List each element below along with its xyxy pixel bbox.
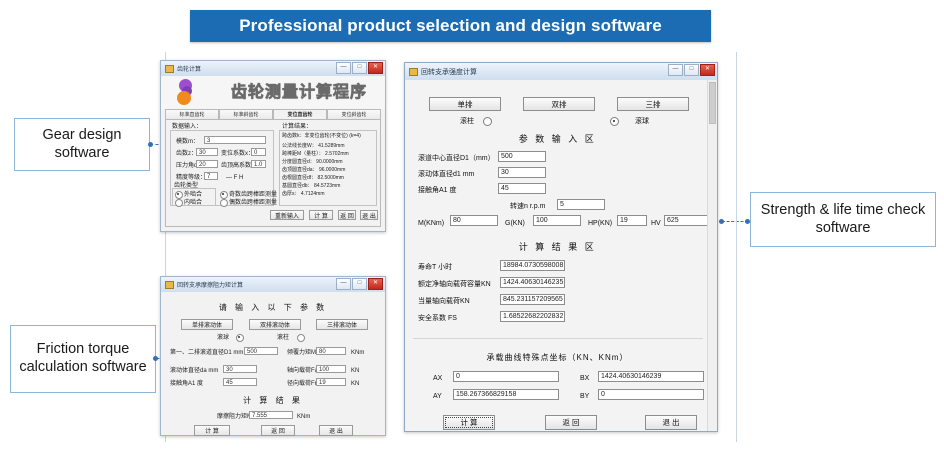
strength-input-value-0[interactable]: 500 [498,151,546,162]
friction-window-titlebar[interactable]: 回转支承摩擦阻力矩计算 — □ ✕ [161,277,385,293]
strength-coord-label-ax: AX [433,375,442,382]
friction-left-input-2[interactable]: 45 [223,378,257,386]
banner-title: Professional product selection and desig… [239,16,662,36]
screenshot-root: Professional product selection and desig… [0,0,944,457]
strength-result-value-0[interactable]: 18984.0730598008 [500,260,565,271]
friction-radio-roller-label: 滚柱 [277,335,289,341]
strength-check-window[interactable]: 回转支承强度计算 — □ ✕ 单排 双排 三排 滚柱 滚球 参 数 输 入 区 … [404,62,718,432]
tab-standard-helical[interactable]: 标准斜齿轮 [219,109,273,119]
friction-left-input-1[interactable]: 30 [223,365,257,373]
strength-back-button[interactable]: 返 回 [545,415,597,430]
gear-result-line-2: 跨棒距M（量柱）： 2.5702mm [282,152,349,157]
friction-right-input-2[interactable]: 19 [316,378,346,386]
radio-internal-mesh-label: 内啮合 [184,200,202,206]
maximize-button[interactable]: □ [352,62,367,74]
maximize-button[interactable]: □ [352,278,367,290]
friction-left-label-1: 滚动体直径da mm [170,368,218,374]
gear-result-line-4: 齿顶圆直径da： 96.0000mm [282,168,345,173]
tab-profile-shifted-helical[interactable]: 变位斜齿轮 [327,109,381,119]
strength-result-label-3: 安全系数 FS [418,315,457,322]
strength-input-label-1: 滚动体直径d1 mm [418,171,474,178]
connector-strength-dot-left [719,219,724,224]
gear-field-input-5[interactable]: 7 [204,172,218,180]
friction-right-label-0: 倾覆力矩M [287,350,316,356]
gear-unit-suffix: — F H [226,175,243,181]
gear-field-input-4[interactable]: 1.0 [251,160,266,168]
close-button[interactable]: ✕ [368,62,383,74]
strength-input-label-0: 滚道中心直径D1（mm） [418,155,495,162]
friction-torque-window[interactable]: 回转支承摩擦阻力矩计算 — □ ✕ 请 输 入 以 下 参 数 单排滚动体 双排… [160,276,386,436]
gear-result-line-3: 分度圆直径d： 90.0000mm [282,160,343,165]
strength-load-value-1[interactable]: 100 [533,215,581,226]
friction-right-unit-2: KN [351,381,359,387]
friction-calculate-button[interactable]: 计 算 [194,425,230,436]
strength-window-controls: — □ ✕ [668,64,715,76]
callout-gear-design: Gear design software [14,118,150,171]
strength-result-label-0: 寿命T 小时 [418,264,452,271]
friction-radio-ball[interactable] [236,334,244,342]
friction-single-row-button[interactable]: 单排滚动体 [181,319,233,330]
gear-window-title: 齿轮计算 [177,64,201,73]
friction-heading: 请 输 入 以 下 参 数 [161,302,385,313]
strength-curve-section-title: 承载曲线特殊点坐标（KN、KNm） [405,352,710,363]
strength-result-value-1[interactable]: 1424.40630146235 [500,277,565,288]
strength-divider [413,338,703,339]
strength-coord-value-ax[interactable]: 0 [453,371,559,382]
friction-right-label-2: 径向载荷Fr [287,381,317,387]
strength-coord-label-bx: BX [580,375,589,382]
gear-field-input-2[interactable]: 20 [196,160,218,168]
strength-window-scrollbar[interactable] [707,80,717,431]
radio-odd-tooth-measure[interactable] [220,191,228,199]
strength-coord-value-bx[interactable]: 1424.40630146239 [598,371,704,382]
strength-input-value-2[interactable]: 45 [498,183,546,194]
strength-radio-ball-label: 滚球 [635,118,649,125]
strength-load-value-2[interactable]: 19 [617,215,647,226]
strength-single-row-button[interactable]: 单排 [429,97,501,111]
gear-back-button[interactable]: 返 回 [338,210,356,220]
close-button[interactable]: ✕ [700,64,715,76]
strength-coord-label-by: BY [580,393,589,400]
friction-right-label-1: 轴向载荷Fa [287,368,318,374]
strength-input-value-3[interactable]: 5 [557,199,605,210]
friction-double-row-button[interactable]: 双排滚动体 [249,319,301,330]
friction-left-label-0: 第一、二排滚道直径D1 mm [170,350,243,356]
friction-result-unit: KNm [297,414,310,420]
strength-coord-label-ay: AY [433,393,442,400]
callout-strength-label: Strength & life time check software [755,202,931,237]
minimize-button[interactable]: — [668,64,683,76]
strength-result-value-2[interactable]: 845.231157209565 [500,294,565,305]
gear-result-line-0: 跨齿数k：非变位齿轮(不变位) (k=4) [282,134,361,139]
strength-load-label-0: M(KNm) [418,220,444,227]
page-banner: Professional product selection and desig… [190,10,711,42]
strength-radio-ball[interactable] [610,117,619,126]
strength-input-section-title: 参 数 输 入 区 [405,132,710,145]
gear-result-line-1: 公法线长度W： 41.5289mm [282,144,345,149]
strength-result-label-2: 当量轴向载荷KN [418,298,470,305]
strength-exit-button[interactable]: 退 出 [645,415,697,430]
friction-right-input-1[interactable]: 100 [316,365,346,373]
strength-coord-value-by[interactable]: 0 [598,389,704,400]
gear-field-label-3: 变位系数x： [221,151,254,157]
close-button[interactable]: ✕ [368,278,383,290]
strength-result-section-title: 计 算 结 果 区 [405,240,710,253]
tab-standard-spur[interactable]: 标准直齿轮 [165,109,219,119]
radio-internal-mesh[interactable] [175,199,183,207]
callout-gear-label: Gear design software [19,127,145,162]
strength-load-label-3: HV [651,220,661,227]
connector-gear-dot-left [148,142,153,147]
friction-right-unit-0: KNm [351,350,364,356]
strength-radio-roller-label: 滚柱 [460,118,474,125]
scrollbar-thumb[interactable] [709,82,716,124]
tab-profile-shifted-spur[interactable]: 变位直齿轮 [273,109,327,119]
gear-field-input-1[interactable]: 30 [196,148,218,156]
friction-right-unit-1: KN [351,368,359,374]
connector-friction-dot-left [153,356,158,361]
radio-external-mesh-label: 外啮合 [184,192,202,198]
gear-exit-button[interactable]: 退 出 [360,210,378,220]
gear-result-line-6: 基圆直径db： 84.5723mm [282,184,340,189]
gear-field-input-0[interactable]: 3 [204,136,266,144]
folder-icon [165,281,174,289]
strength-window-body: 单排 双排 三排 滚柱 滚球 参 数 输 入 区 滚道中心直径D1（mm） 50… [405,80,717,431]
friction-radio-roller[interactable] [297,334,305,342]
strength-load-label-1: G(KN) [505,220,525,227]
friction-left-label-2: 接触角A1 度 [170,381,203,387]
friction-window-title: 回转支承摩擦阻力矩计算 [177,280,243,289]
friction-radio-ball-label: 滚球 [217,335,229,341]
strength-window-title: 回转支承强度计算 [421,67,477,77]
friction-window-controls: — □ ✕ [336,278,383,290]
friction-window-body: 请 输 入 以 下 参 数 单排滚动体 双排滚动体 三排滚动体 滚球 滚柱 第一… [161,292,385,435]
friction-right-input-0[interactable]: 80 [316,347,346,355]
radio-even-tooth-measure[interactable] [220,199,228,207]
gear-reset-button[interactable]: 重新输入 [270,210,304,220]
radio-even-tooth-measure-label: 偶数齿跨棒距测量 [229,200,277,206]
strength-radio-roller[interactable] [483,117,492,126]
gear-header: 齿轮测量计算程序 [161,76,385,109]
strength-input-value-1[interactable]: 30 [498,167,546,178]
minimize-button[interactable]: — [336,62,351,74]
gear-window-controls: — □ ✕ [336,62,383,74]
strength-double-row-button[interactable]: 双排 [523,97,595,111]
strength-calculate-button[interactable]: 计 算 [443,415,495,430]
strength-load-label-2: HP(KN) [588,220,612,227]
gear-window-titlebar[interactable]: 齿轮计算 — □ ✕ [161,61,385,77]
gear-design-window[interactable]: 齿轮计算 — □ ✕ 齿轮测量计算程序 标准直齿轮 标准斜齿轮 变位直齿轮 变位… [160,60,386,232]
strength-input-label-2: 接触角A1 度 [418,187,457,194]
callout-friction-torque: Friction torque calculation software [10,325,156,393]
callout-friction-label: Friction torque calculation software [15,341,151,376]
radio-external-mesh[interactable] [175,191,183,199]
gear-field-input-3[interactable]: 0 [251,148,266,156]
gear-field-label-5: 精度等级： [176,175,206,181]
strength-window-titlebar[interactable]: 回转支承强度计算 — □ ✕ [405,63,717,81]
callout-strength-life: Strength & life time check software [750,192,936,247]
gear-field-label-1: 齿数z： [176,151,197,157]
friction-back-button[interactable]: 返 回 [261,425,295,436]
connector-strength-dot-right [745,219,750,224]
folder-icon [165,65,174,73]
gear-calculate-button[interactable]: 计 算 [309,210,333,220]
gear-tab-panel: 数据输入： 模数m： 3 齿数z： 30 变位系数x： 0 压力角α： 20 齿… [165,119,381,227]
strength-result-value-3[interactable]: 1.68522682202832 [500,311,565,322]
gear-field-label-0: 模数m： [176,139,199,145]
friction-left-input-0[interactable]: 500 [244,347,278,355]
strength-result-label-1: 额定净轴向载荷容量KN [418,281,491,288]
strength-input-label-3: 转速n r.p.m [510,203,545,210]
strength-load-value-3[interactable]: 625 [664,215,708,226]
friction-triple-row-button[interactable]: 三排滚动体 [316,319,368,330]
logo-circle-orange [177,91,191,105]
minimize-button[interactable]: — [336,278,351,290]
friction-result-heading: 计 算 结 果 [161,395,385,406]
gear-header-title: 齿轮测量计算程序 [219,82,379,104]
radio-odd-tooth-measure-label: 奇数齿跨棒距测量 [229,192,277,198]
gear-window-body: 齿轮测量计算程序 标准直齿轮 标准斜齿轮 变位直齿轮 变位斜齿轮 数据输入： 模… [161,76,385,231]
friction-result-value[interactable]: 7.555 [249,411,293,419]
strength-coord-value-ay[interactable]: 158.267366829158 [453,389,559,400]
maximize-button[interactable]: □ [684,64,699,76]
gear-result-line-5: 齿根圆直径df： 82.5000mm [282,176,344,181]
gear-result-line-7: 齿厚s： 4.7124mm [282,192,325,197]
friction-exit-button[interactable]: 退 出 [319,425,353,436]
strength-load-value-0[interactable]: 80 [450,215,498,226]
gear-tabs[interactable]: 标准直齿轮 标准斜齿轮 变位直齿轮 变位斜齿轮 [165,109,381,119]
guide-line-right [736,52,737,442]
strength-triple-row-button[interactable]: 三排 [617,97,689,111]
folder-icon [409,68,418,76]
